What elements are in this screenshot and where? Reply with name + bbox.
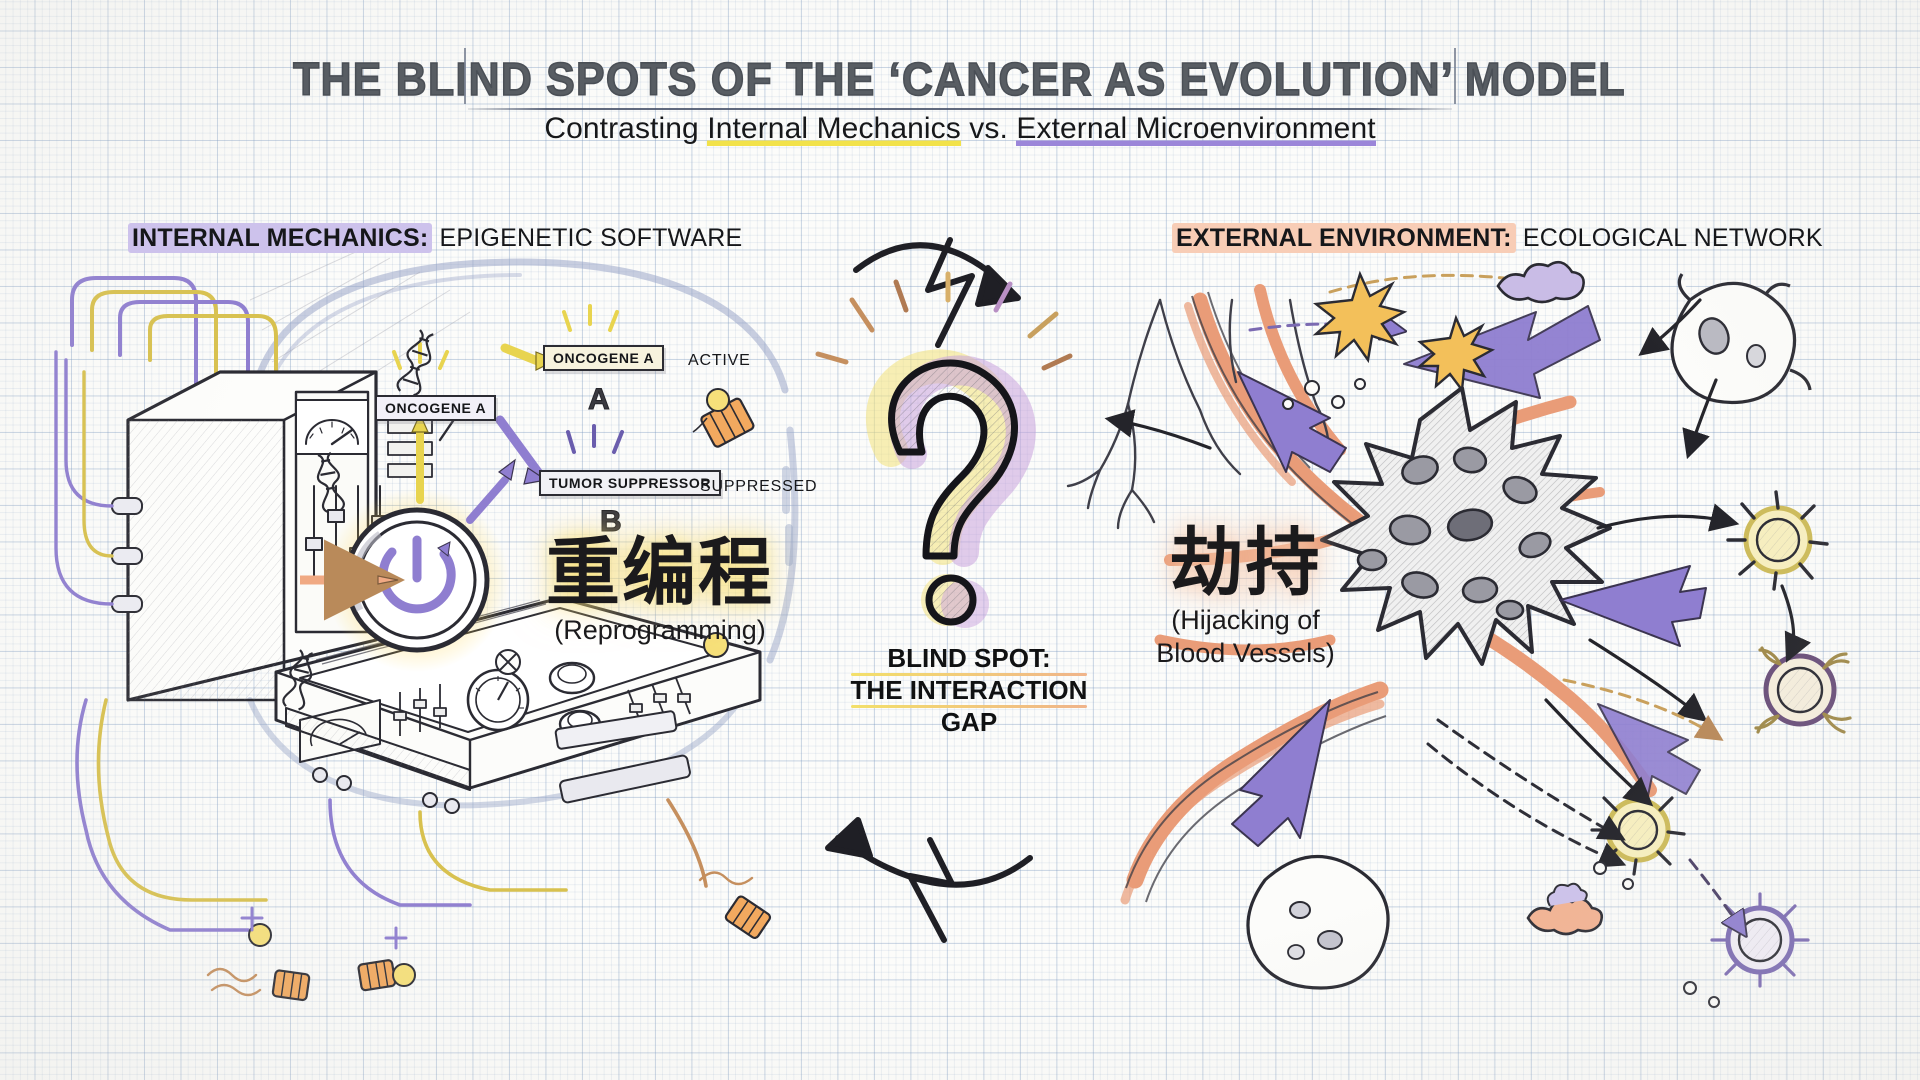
section-header-internal-strong: INTERNAL MECHANICS: xyxy=(128,223,432,253)
subtitle-middle: vs. xyxy=(961,112,1017,145)
left-cjk-term: 重编程 xyxy=(510,535,810,613)
gene-state-active: ACTIVE xyxy=(688,352,751,370)
gene-box-oncogene-active: ONCOGENE A xyxy=(543,345,664,371)
blind-spot-caption: BLIND SPOT: THE INTERACTION GAP xyxy=(835,644,1103,740)
right-cjk-term: 劫持 xyxy=(1128,525,1363,603)
left-cjk-romanization: (Reprogramming) xyxy=(510,615,810,646)
right-panel-illustration xyxy=(0,0,1920,1080)
subtitle-highlight-internal: Internal Mechanics xyxy=(707,112,961,147)
title-block: THE BLIND SPOTS OF THE ‘CANCER AS EVOLUT… xyxy=(0,52,1920,112)
left-cjk-label: 重编程 (Reprogramming) xyxy=(510,535,810,646)
right-cjk-label: 劫持 (Hijacking of Blood Vessels) xyxy=(1128,525,1363,669)
gene-box-oncogene-source: ONCOGENE A xyxy=(375,395,496,421)
macrophage-icon-2 xyxy=(1248,856,1388,988)
blind-spot-line-2: THE INTERACTION xyxy=(835,676,1103,708)
right-cjk-romanization-2: Blood Vessels) xyxy=(1128,638,1363,669)
section-header-external: EXTERNAL ENVIRONMENT: ECOLOGICAL NETWORK xyxy=(1172,224,1823,253)
page-subtitle: Contrasting Internal Mechanics vs. Exter… xyxy=(0,112,1920,146)
blind-spot-line-1: BLIND SPOT: xyxy=(835,644,1103,676)
right-cjk-romanization-1: (Hijacking of xyxy=(1128,605,1363,636)
subtitle-lead: Contrasting xyxy=(544,112,707,145)
section-header-internal: INTERNAL MECHANICS: EPIGENETIC SOFTWARE xyxy=(128,224,742,253)
section-header-internal-rest: EPIGENETIC SOFTWARE xyxy=(432,224,742,252)
gene-box-tumor-suppressor: TUMOR SUPPRESSOR xyxy=(539,470,721,496)
gene-letter-a: A xyxy=(588,383,610,417)
blind-spot-line-3: GAP xyxy=(835,708,1103,740)
page-title: THE BLIND SPOTS OF THE ‘CANCER AS EVOLUT… xyxy=(269,52,1650,112)
gene-state-suppressed: SUPPRESSED xyxy=(700,478,817,496)
subtitle-highlight-external: External Microenvironment xyxy=(1016,112,1375,147)
tumor-mass-icon xyxy=(1322,388,1610,664)
macrophage-icon xyxy=(1672,274,1810,402)
section-header-external-strong: EXTERNAL ENVIRONMENT: xyxy=(1172,223,1516,253)
section-header-external-rest: ECOLOGICAL NETWORK xyxy=(1516,224,1823,252)
